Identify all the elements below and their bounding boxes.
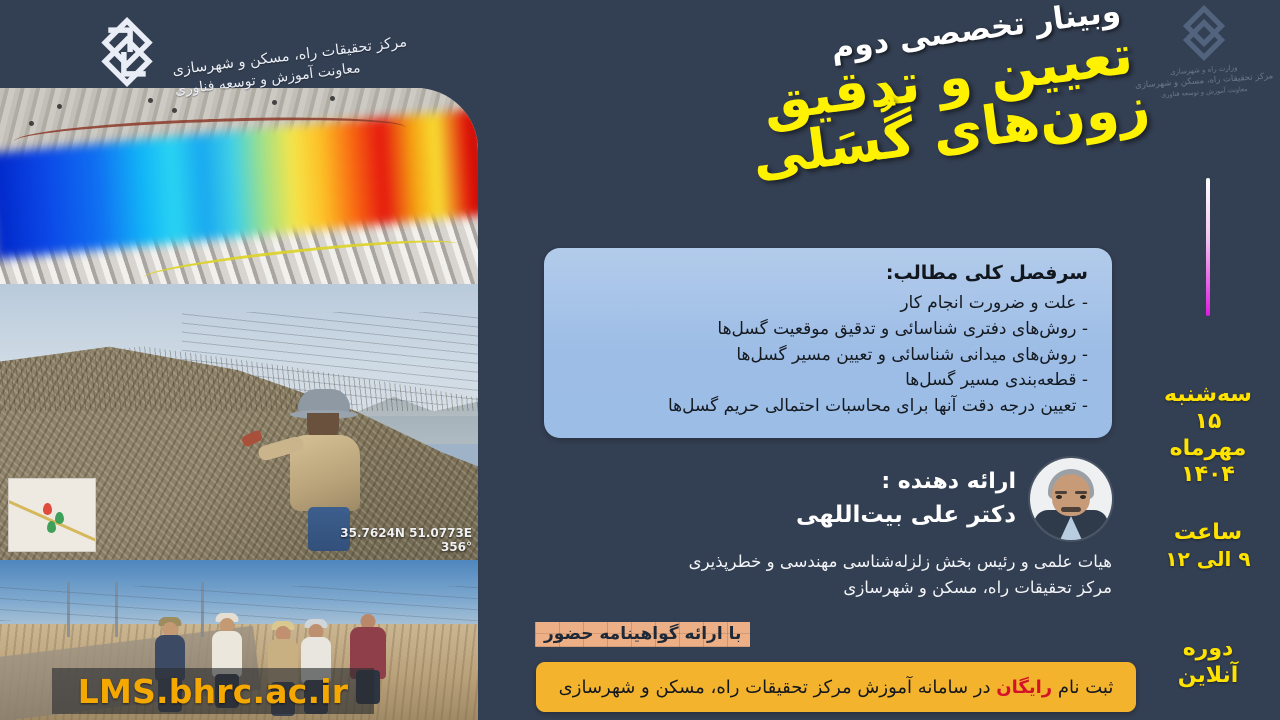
mode-line-1: دوره <box>1136 636 1280 663</box>
registration-bar[interactable]: ثبت نام رایگان در سامانه آموزش مرکز تحقی… <box>536 662 1136 712</box>
presenter-avatar <box>1030 458 1112 540</box>
moustache <box>1061 507 1081 512</box>
gps-coords: 35.7624N 51.0773E <box>340 527 472 540</box>
syllabus-list: - علت و ضرورت انجام کار - روش‌های دفتری … <box>568 291 1088 420</box>
event-mode-group: دوره آنلاین <box>1136 636 1280 690</box>
lms-url-text: LMS.bhrc.ac.ir <box>78 672 348 711</box>
eye <box>1080 495 1086 499</box>
syllabus-item: - علت و ضرورت انجام کار <box>568 291 1088 317</box>
date-weekday: سه‌شنبه <box>1136 382 1280 409</box>
power-lines <box>0 586 478 621</box>
brand-logo-left: مرکز تحقیقات راه، مسکن و شهرسازی معاونت … <box>88 6 378 98</box>
geologist-figure <box>282 389 368 549</box>
presenter-labels: ارائه دهنده : دکتر علی بیت‌اللهی <box>592 467 1016 531</box>
presenter-header: ارائه دهنده : دکتر علی بیت‌اللهی <box>592 458 1112 540</box>
fault-outcrop-photo: 35.7624N 51.0773E 356° <box>0 284 478 560</box>
presenter-affiliation: هیات علمی و رئیس بخش زلزله‌شناسی مهندسی … <box>592 549 1112 602</box>
date-day: ۱۵ <box>1136 409 1280 436</box>
map-pin-icon <box>47 521 56 533</box>
time-value: ۹ الی ۱۲ <box>1136 547 1280 571</box>
mode-line-2: آنلاین <box>1136 663 1280 690</box>
media-column: 35.7624N 51.0773E 356° <box>0 88 478 720</box>
presenter-name: دکتر علی بیت‌اللهی <box>592 501 1016 531</box>
presenter-role-label: ارائه دهنده : <box>592 467 1016 497</box>
affiliation-line-1: هیات علمی و رئیس بخش زلزله‌شناسی مهندسی … <box>592 549 1112 575</box>
map-pin-icon <box>55 512 64 524</box>
map-pin-icon <box>43 503 52 515</box>
lms-url-banner: LMS.bhrc.ac.ir <box>52 668 374 714</box>
field-team-photo: LMS.bhrc.ac.ir <box>0 560 478 720</box>
eyebrow <box>1055 491 1067 494</box>
time-label: ساعت <box>1136 520 1280 547</box>
date-year: ۱۴۰۴ <box>1136 462 1280 489</box>
event-date-group: سه‌شنبه ۱۵ مهرماه ۱۴۰۴ <box>1136 382 1280 489</box>
map-marker <box>148 98 153 103</box>
title-line-1: تعیین و تدقیق <box>490 27 1151 166</box>
syllabus-heading: سرفصل کلی مطالب: <box>568 262 1088 284</box>
title-line-2: زون‌های گُسَلی <box>497 79 1158 218</box>
interlocking-diamond-logo-icon <box>88 13 166 91</box>
affiliation-line-2: مرکز تحقیقات راه، مسکن و شهرسازی <box>592 575 1112 601</box>
gps-coordinate-stamp: 35.7624N 51.0773E 356° <box>340 527 472 554</box>
title-kicker: وبینار تخصصی دوم <box>486 0 1145 111</box>
syllabus-item: - روش‌های دفتری شناسائی و تدقیق موقعیت گ… <box>568 317 1088 343</box>
registration-prefix: ثبت نام <box>1052 677 1113 698</box>
seismic-profile-image <box>0 88 478 284</box>
date-month: مهرماه <box>1136 436 1280 463</box>
eyebrow <box>1075 491 1087 494</box>
event-time-group: ساعت ۹ الی ۱۲ <box>1136 520 1280 571</box>
certificate-ribbon: با ارائه گواهینامه حضور <box>535 622 750 647</box>
registration-suffix: در سامانه آموزش مرکز تحقیقات راه، مسکن و… <box>559 677 997 698</box>
syllabus-item: - تعیین درجه دقت آنها برای محاسبات احتما… <box>568 394 1088 420</box>
map-marker <box>172 108 177 113</box>
brand-left-wordmark: مرکز تحقیقات راه، مسکن و شهرسازی معاونت … <box>172 34 411 98</box>
interlocking-diamond-logo-icon <box>1175 4 1233 62</box>
brand-right-wordmark: وزارت راه و شهرسازی مرکز تحقیقات راه، مس… <box>1135 66 1273 96</box>
syllabus-item: - روش‌های میدانی شناسائی و تعیین مسیر گس… <box>568 343 1088 369</box>
rail-gradient-divider <box>1206 178 1210 316</box>
syllabus-card: سرفصل کلی مطالب: - علت و ضرورت انجام کار… <box>544 248 1112 438</box>
presenter-section: ارائه دهنده : دکتر علی بیت‌اللهی هیات عل… <box>592 458 1112 602</box>
gps-bearing: 356° <box>340 541 472 554</box>
registration-text: ثبت نام رایگان در سامانه آموزش مرکز تحقی… <box>559 677 1114 698</box>
registration-free-badge: رایگان <box>996 677 1052 698</box>
webinar-poster: مرکز تحقیقات راه، مسکن و شهرسازی معاونت … <box>0 0 1280 720</box>
syllabus-item: - قطعه‌بندی مسیر گسل‌ها <box>568 368 1088 394</box>
map-inset <box>8 478 96 552</box>
brand-logo-right: وزارت راه و شهرسازی مرکز تحقیقات راه، مس… <box>1144 4 1264 144</box>
